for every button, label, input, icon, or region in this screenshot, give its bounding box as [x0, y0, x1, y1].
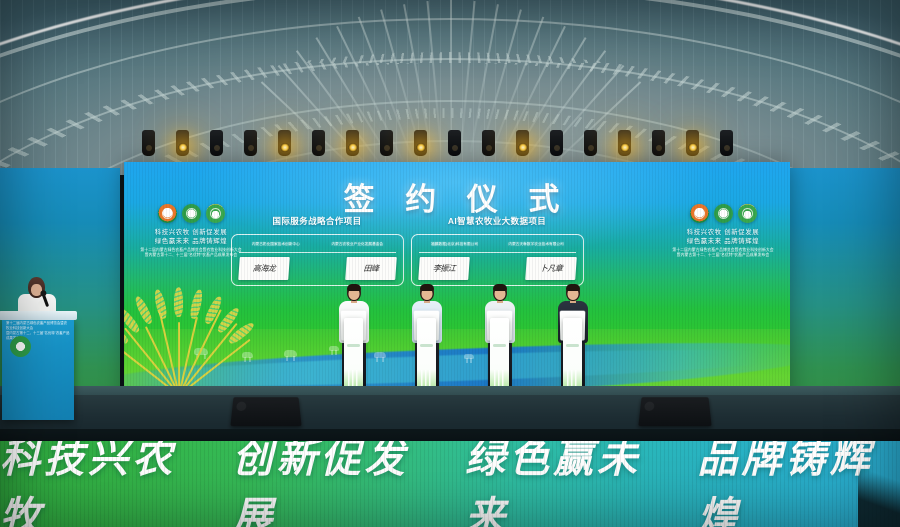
project-label-2: AI智慧农牧业大数据项目 — [402, 215, 592, 227]
wheat-stalk — [178, 309, 222, 396]
wheat-artwork-right — [738, 329, 784, 389]
stage-light-fixture — [278, 130, 291, 156]
wheat-ear — [174, 287, 183, 317]
slogan-line-2: 绿色赢未来 品牌铸辉煌 — [664, 237, 782, 246]
stage-light-fixture — [244, 130, 257, 156]
wheat-ear — [133, 295, 154, 326]
divider — [239, 252, 396, 253]
signature-card: 高海龙 — [238, 257, 290, 280]
organization-name: 内蒙古农牧业产业化发展基金会 — [331, 242, 383, 247]
signatory-hair — [566, 284, 580, 291]
signing-panel-2: 福鹏数据(北京)科技有限公司 内蒙古天犇数字农业技术有限公司 李振江 卜凡章 — [411, 234, 584, 286]
cow-silhouette — [464, 354, 474, 359]
wheat-ear — [153, 288, 169, 319]
dairy-emblem-icon — [690, 204, 709, 223]
podium-line-1: 第十二届内蒙古绿色农畜产品博览会暨农牧业科技创新大会 — [6, 321, 70, 331]
podium-logo-icon — [10, 336, 31, 357]
bottom-led-banner: 科技兴农牧 创新促发展 绿色赢未来 品牌铸辉煌 — [0, 441, 900, 527]
stage-light-fixture — [516, 130, 529, 156]
side-slogan-right: 科技兴农牧 创新促发展 绿色赢未来 品牌铸辉煌 — [664, 228, 782, 246]
signature-cards-1: 高海龙 田峰 — [239, 257, 396, 280]
event-line-2: 暨内蒙古第十二、十三届"名优特"农畜产品成果发布会 — [664, 253, 782, 258]
organization-name: 福鹏数据(北京)科技有限公司 — [431, 242, 478, 247]
stage-light-fixture — [346, 130, 359, 156]
stage-light-fixture — [210, 130, 223, 156]
podium-top — [0, 311, 77, 320]
cow-silhouette — [242, 352, 253, 358]
signatory-hair — [347, 284, 361, 291]
organization-row-1: 内蒙古奶业国家技术创新中心 内蒙古农牧业产业化发展基金会 — [236, 239, 399, 250]
banner-corner-shadow — [858, 441, 900, 527]
signing-panel-1: 内蒙古奶业国家技术创新中心 内蒙古农牧业产业化发展基金会 高海龙 田峰 — [231, 234, 404, 286]
stage-light-fixture — [618, 130, 631, 156]
stage-light-fixture — [652, 130, 665, 156]
stage-light-fixture — [142, 130, 155, 156]
emblem-row-right — [664, 204, 782, 223]
stage-monitor-speaker — [638, 397, 711, 426]
signature-cards-2: 李振江 卜凡章 — [419, 257, 576, 280]
organization-row-2: 福鹏数据(北京)科技有限公司 内蒙古天犇数字农业技术有限公司 — [416, 239, 579, 250]
host-podium: 第十二届内蒙古绿色农畜产品博览会暨农牧业科技创新大会 暨内蒙古第十二、十三届"名… — [2, 318, 74, 420]
led-scanline-overlay — [0, 441, 900, 527]
green-product-emblem-icon — [738, 204, 757, 223]
project-label-1: 国际服务战略合作项目 — [222, 215, 412, 227]
wheat-artwork-left — [136, 285, 226, 395]
main-led-screen: 签 约 仪 式 科技兴农牧 创新促发展 绿色赢未来 品牌铸辉煌 第十二届内蒙古绿… — [124, 162, 790, 415]
agriculture-emblem-icon — [714, 204, 733, 223]
conference-stage-photo: 签 约 仪 式 科技兴农牧 创新促发展 绿色赢未来 品牌铸辉煌 第十二届内蒙古绿… — [0, 0, 900, 527]
stage-light-fixture — [312, 130, 325, 156]
signature-card: 李振江 — [418, 257, 470, 280]
stage-floor-strip — [0, 429, 900, 441]
signatory-hair — [420, 284, 434, 291]
stage-light-fixture — [414, 130, 427, 156]
agriculture-emblem-icon — [182, 204, 201, 223]
side-wall-right — [780, 168, 900, 418]
stage-light-fixture — [550, 130, 563, 156]
wheat-ear — [189, 288, 205, 319]
dairy-emblem-icon — [158, 204, 177, 223]
stage-light-fixture — [380, 130, 393, 156]
signatory-hair — [493, 284, 507, 291]
slogan-line-1: 科技兴农牧 创新促发展 — [664, 228, 782, 237]
divider — [419, 252, 576, 253]
event-title-right: 第十二届内蒙古绿色农畜产品博览会暨农牧业科技创新大会 暨内蒙古第十二、十三届"名… — [664, 248, 782, 259]
cow-silhouette — [284, 350, 297, 357]
stage-light-fixture — [176, 130, 189, 156]
organization-name: 内蒙古奶业国家技术创新中心 — [252, 242, 300, 247]
signature-card: 田峰 — [345, 257, 397, 280]
stage-light-fixture — [482, 130, 495, 156]
cow-silhouette — [374, 352, 386, 358]
stage-monitor-speaker — [230, 397, 301, 426]
stage-light-fixture — [686, 130, 699, 156]
organization-name: 内蒙古天犇数字农业技术有限公司 — [508, 242, 563, 247]
emblem-group-right: 科技兴农牧 创新促发展 绿色赢未来 品牌铸辉煌 第十二届内蒙古绿色农畜产品博览会… — [664, 204, 782, 259]
stage-light-fixture — [448, 130, 461, 156]
podium-event-text: 第十二届内蒙古绿色农畜产品博览会暨农牧业科技创新大会 暨内蒙古第十二、十三届"名… — [6, 321, 70, 333]
stage-light-fixture — [584, 130, 597, 156]
signature-card: 卜凡章 — [525, 257, 577, 280]
stage-light-fixture — [720, 130, 733, 156]
